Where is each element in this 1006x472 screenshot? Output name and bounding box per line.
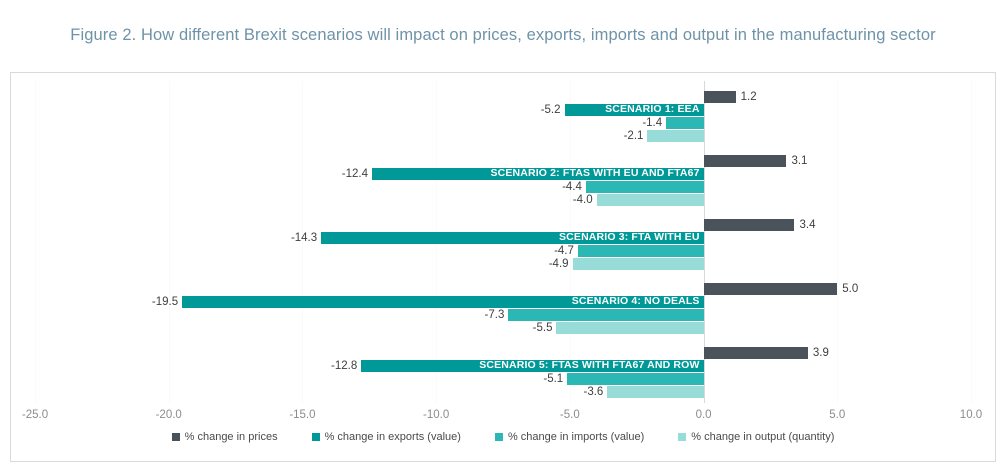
bar-row-output: -4.0 <box>11 194 995 206</box>
bar-row-output: -5.5 <box>11 322 995 334</box>
bar-row-prices: 3.4 <box>11 219 995 231</box>
bar-category-label: SCENARIO 4: NO DEALS <box>182 295 703 308</box>
bar-imports[interactable] <box>586 181 704 193</box>
bar-prices[interactable] <box>704 219 795 231</box>
bar-group: 3.4SCENARIO 3: FTA WITH EU-14.3-4.7-4.9 <box>11 219 995 270</box>
axis-tick-label: -25.0 <box>22 409 48 421</box>
axis-tick-label: 10.0 <box>960 409 982 421</box>
bar-row-exports: SCENARIO 2: FTAS WITH EU AND FTA67-12.4 <box>11 168 995 180</box>
legend-swatch-icon <box>495 433 503 441</box>
bar-prices[interactable] <box>704 155 787 167</box>
bar-row-prices: 3.1 <box>11 155 995 167</box>
bar-row-output: -3.6 <box>11 386 995 398</box>
bar-row-imports: -1.4 <box>11 117 995 129</box>
legend-item[interactable]: % change in imports (value) <box>495 431 644 443</box>
data-label-output: -3.6 <box>583 384 603 400</box>
plot-area: 1.2SCENARIO 1: EEA-5.2-1.4-2.13.1SCENARI… <box>11 81 995 403</box>
bar-output[interactable] <box>573 258 704 270</box>
bar-row-imports: -7.3 <box>11 309 995 321</box>
bar-prices[interactable] <box>704 283 838 295</box>
bar-output[interactable] <box>556 322 703 334</box>
axis-tick-label: -20.0 <box>156 409 182 421</box>
data-label-exports: -14.3 <box>291 230 317 246</box>
legend-swatch-icon <box>172 433 180 441</box>
bar-row-imports: -5.1 <box>11 373 995 385</box>
bar-category-label: SCENARIO 3: FTA WITH EU <box>321 231 703 244</box>
axis-tick-label: -10.0 <box>423 409 449 421</box>
data-label-exports: -12.8 <box>331 358 357 374</box>
legend-swatch-icon <box>678 433 686 441</box>
data-label-exports: -12.4 <box>342 166 368 182</box>
bar-row-exports: SCENARIO 1: EEA-5.2 <box>11 104 995 116</box>
data-label-output: -5.5 <box>533 320 553 336</box>
bar-imports[interactable] <box>666 117 703 129</box>
bar-row-output: -4.9 <box>11 258 995 270</box>
bar-row-output: -2.1 <box>11 130 995 142</box>
data-label-imports: -5.1 <box>543 371 563 387</box>
bar-prices[interactable] <box>704 347 808 359</box>
legend-item[interactable]: % change in prices <box>172 431 278 443</box>
data-label-imports: -1.4 <box>642 115 662 131</box>
data-label-prices: 3.9 <box>813 345 829 361</box>
legend-swatch-icon <box>312 433 320 441</box>
bar-group: 3.9SCENARIO 5: FTAS WITH FTA67 AND ROW-1… <box>11 347 995 398</box>
legend-label: % change in exports (value) <box>325 431 461 443</box>
data-label-prices: 3.4 <box>799 217 815 233</box>
data-label-imports: -7.3 <box>485 307 505 323</box>
bar-category-label: SCENARIO 1: EEA <box>565 103 704 116</box>
axis-tick-label: -5.0 <box>560 409 580 421</box>
page-title: Figure 2. How different Brexit scenarios… <box>60 24 946 47</box>
legend-label: % change in prices <box>185 431 278 443</box>
legend-label: % change in output (quantity) <box>691 431 834 443</box>
data-label-output: -4.0 <box>573 192 593 208</box>
data-label-output: -4.9 <box>549 256 569 272</box>
bar-group: 1.2SCENARIO 1: EEA-5.2-1.4-2.1 <box>11 91 995 142</box>
bar-row-prices: 1.2 <box>11 91 995 103</box>
bar-output[interactable] <box>647 130 703 142</box>
bar-category-label: SCENARIO 2: FTAS WITH EU AND FTA67 <box>372 167 704 180</box>
chart-legend: % change in prices% change in exports (v… <box>11 431 995 443</box>
bar-output[interactable] <box>597 194 704 206</box>
data-label-prices: 5.0 <box>842 281 858 297</box>
bar-output[interactable] <box>607 386 703 398</box>
data-label-output: -2.1 <box>624 128 644 144</box>
bar-imports[interactable] <box>578 245 704 257</box>
bar-row-imports: -4.4 <box>11 181 995 193</box>
data-label-exports: -19.5 <box>152 294 178 310</box>
axis-tick-label: 5.0 <box>829 409 845 421</box>
data-label-prices: 3.1 <box>791 153 807 169</box>
bar-group: 5.0SCENARIO 4: NO DEALS-19.5-7.3-5.5 <box>11 283 995 334</box>
data-label-exports: -5.2 <box>541 102 561 118</box>
bar-row-imports: -4.7 <box>11 245 995 257</box>
x-axis: -25.0-20.0-15.0-10.0-5.00.05.010.0 <box>11 409 995 427</box>
axis-tick-label: 0.0 <box>696 409 712 421</box>
axis-tick-label: -15.0 <box>289 409 315 421</box>
data-label-prices: 1.2 <box>741 89 757 105</box>
figure-container: Figure 2. How different Brexit scenarios… <box>0 0 1006 472</box>
bar-row-exports: SCENARIO 5: FTAS WITH FTA67 AND ROW-12.8 <box>11 360 995 372</box>
legend-item[interactable]: % change in output (quantity) <box>678 431 834 443</box>
legend-item[interactable]: % change in exports (value) <box>312 431 461 443</box>
legend-label: % change in imports (value) <box>508 431 644 443</box>
bar-group: 3.1SCENARIO 2: FTAS WITH EU AND FTA67-12… <box>11 155 995 206</box>
bar-row-prices: 3.9 <box>11 347 995 359</box>
bar-prices[interactable] <box>704 91 736 103</box>
chart-frame: 1.2SCENARIO 1: EEA-5.2-1.4-2.13.1SCENARI… <box>10 72 996 462</box>
bar-row-exports: SCENARIO 3: FTA WITH EU-14.3 <box>11 232 995 244</box>
bar-category-label: SCENARIO 5: FTAS WITH FTA67 AND ROW <box>361 359 703 372</box>
